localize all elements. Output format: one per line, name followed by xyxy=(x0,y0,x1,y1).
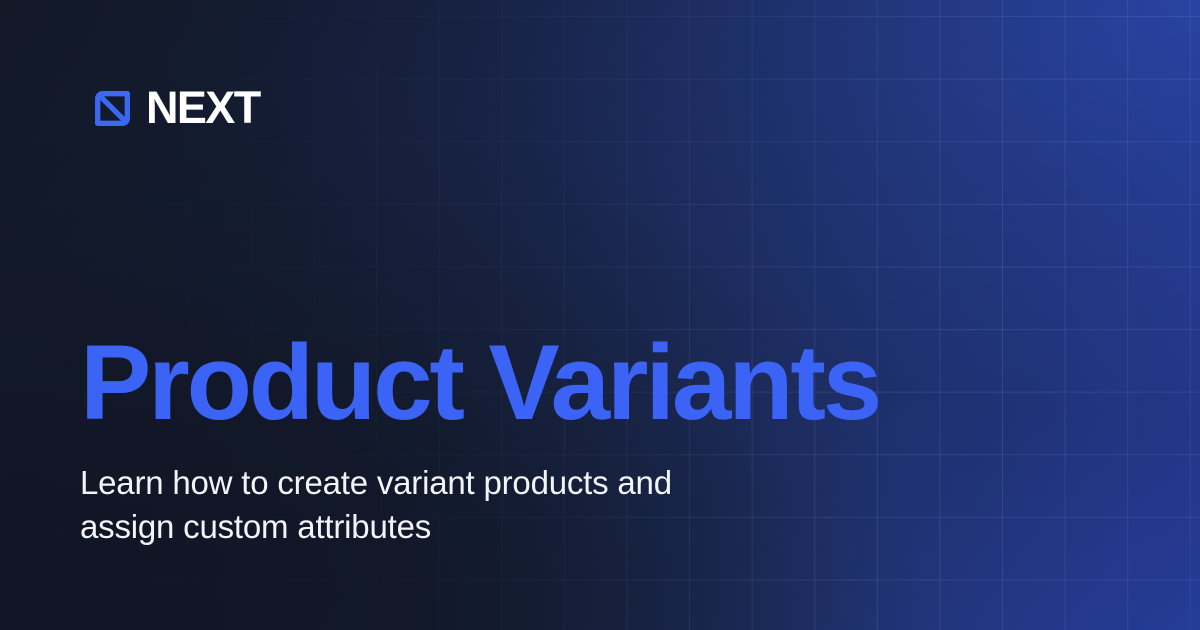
card-content: NEXT Product Variants Learn how to creat… xyxy=(0,0,1200,630)
next-logo-mark-icon xyxy=(88,84,137,133)
page-subtitle-line-1: Learn how to create variant products and xyxy=(80,464,672,501)
page-subtitle: Learn how to create variant products and… xyxy=(80,461,840,548)
og-card: NEXT Product Variants Learn how to creat… xyxy=(0,0,1200,630)
brand-wordmark: NEXT xyxy=(146,85,260,130)
hero-text-block: Product Variants Learn how to create var… xyxy=(80,326,1020,549)
page-subtitle-line-2: assign custom attributes xyxy=(80,508,431,545)
page-title: Product Variants xyxy=(80,326,1020,439)
brand-logo: NEXT xyxy=(88,84,260,133)
